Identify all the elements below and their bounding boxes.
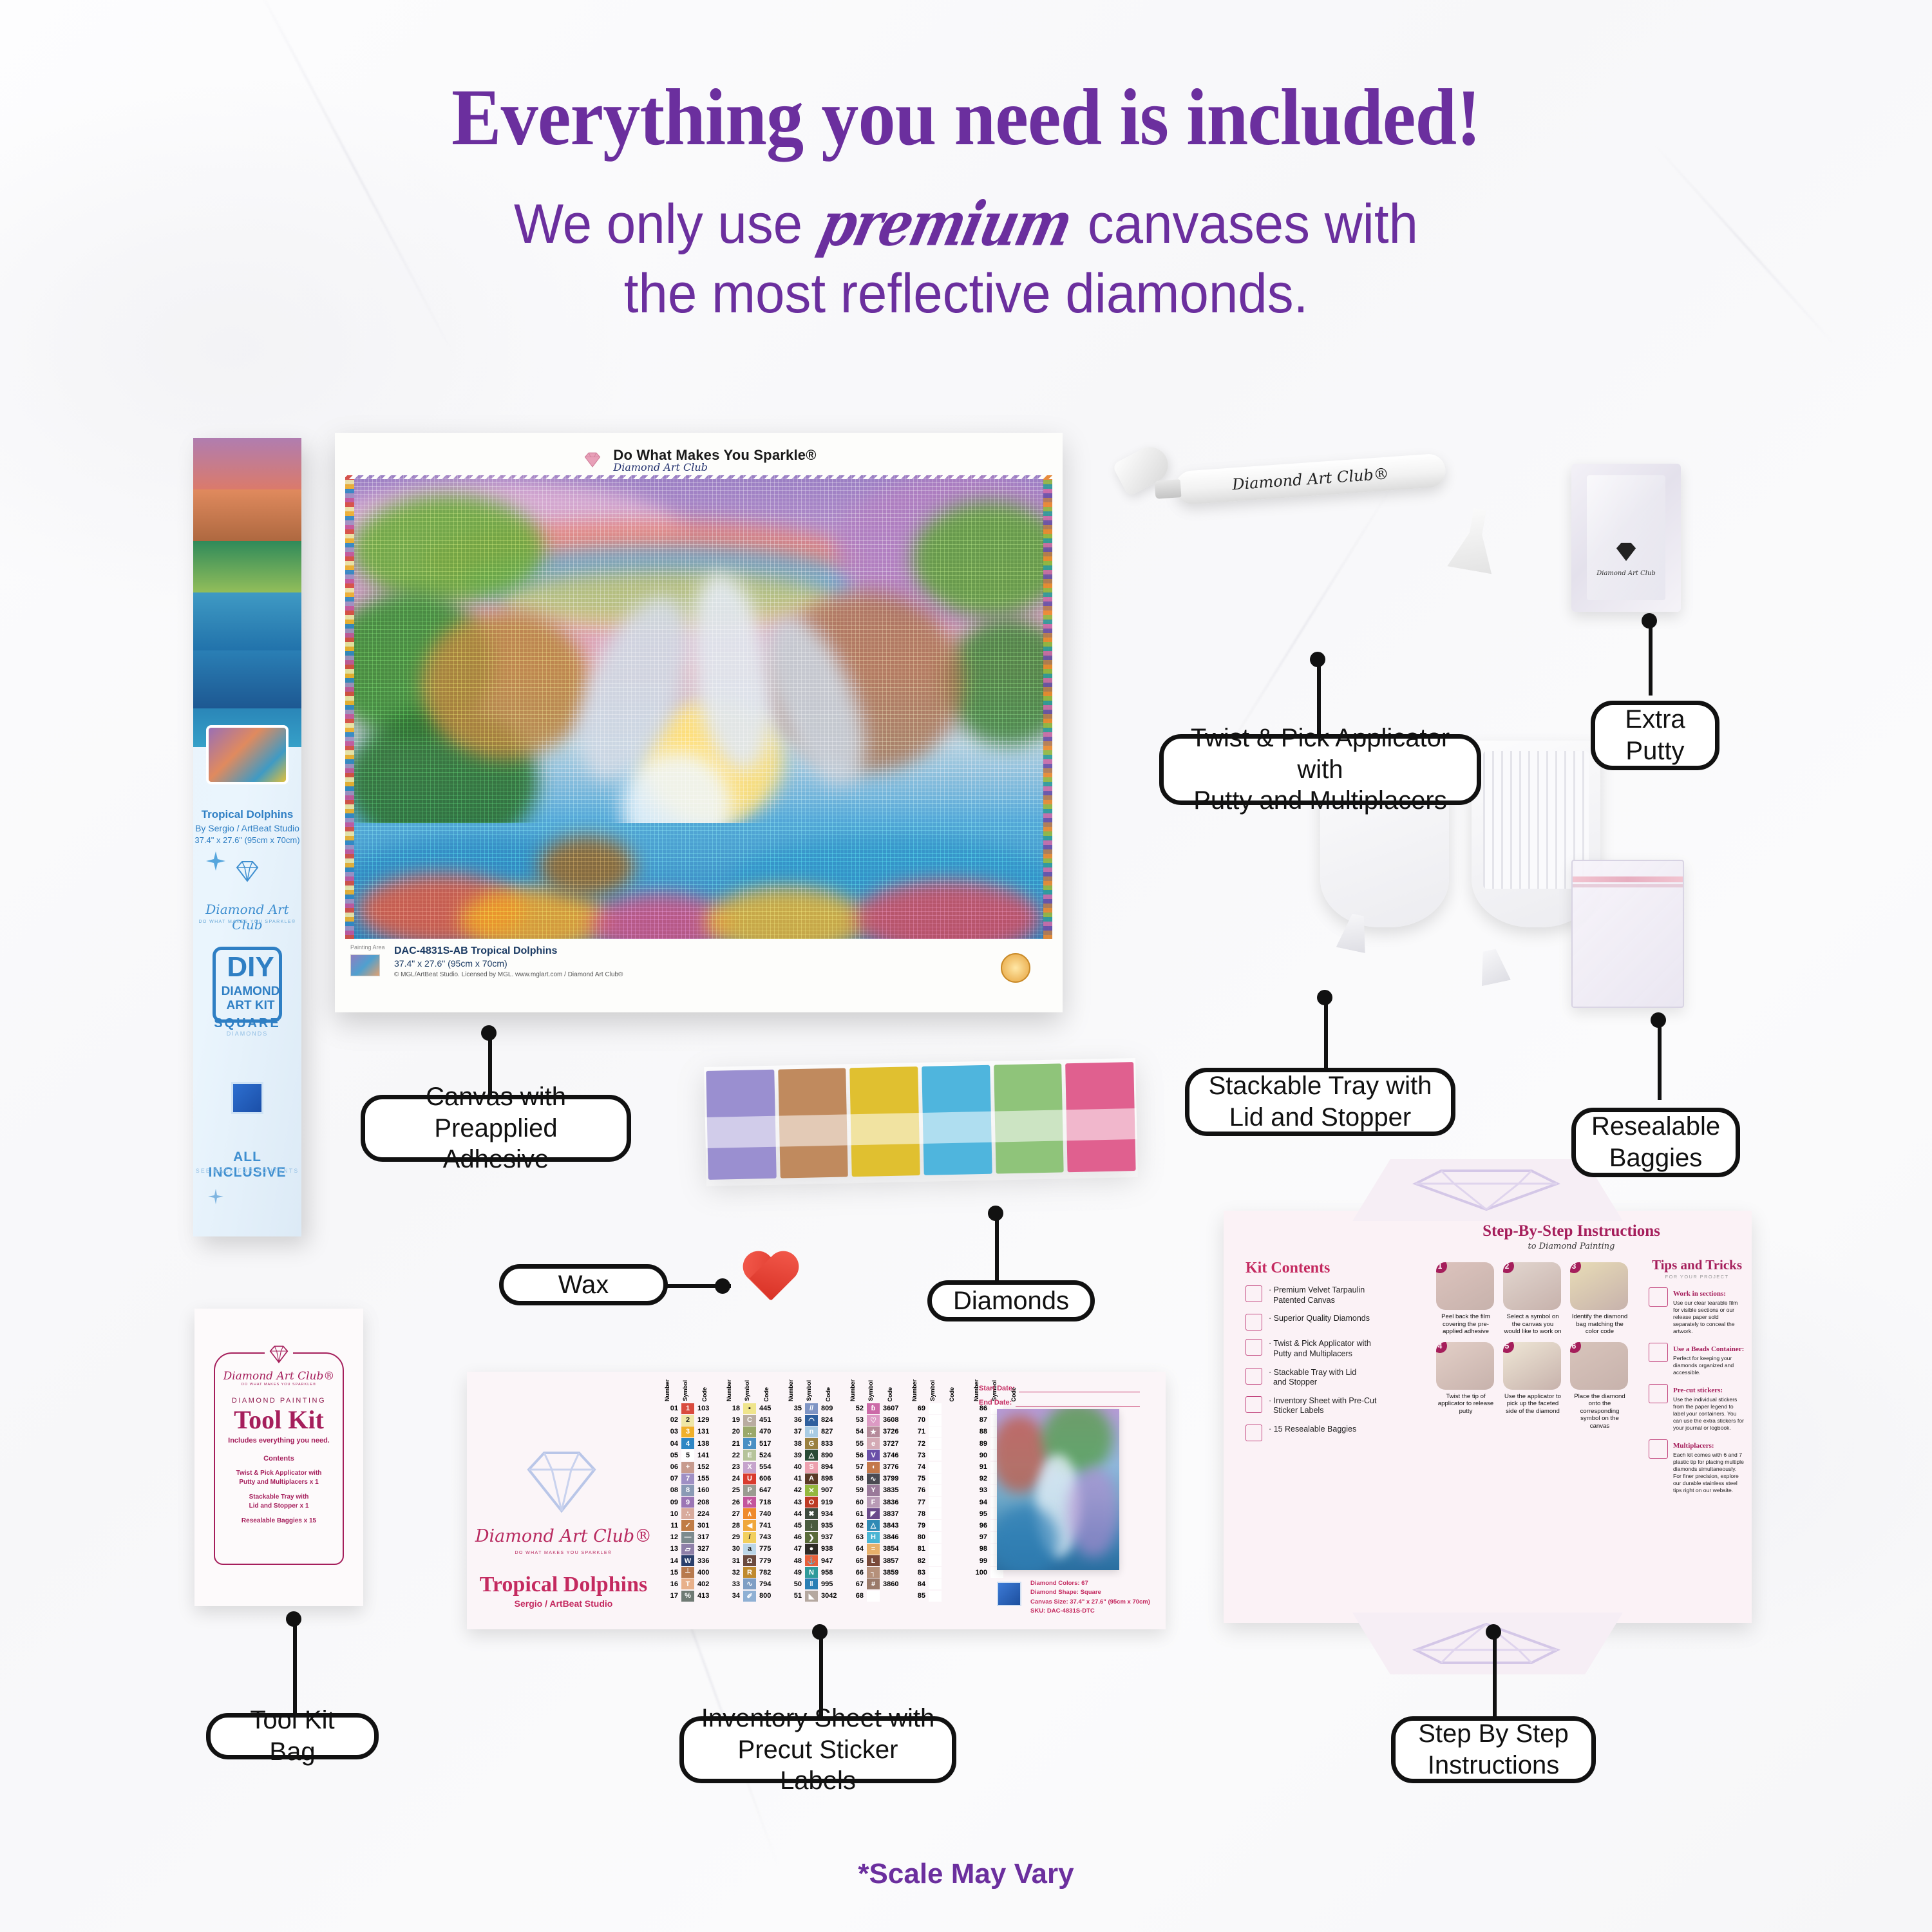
tip-title: Use a Beads Container:: [1673, 1345, 1744, 1353]
diamond-shape-label: SQUARE: [193, 1016, 301, 1031]
inventory-row: 79: [907, 1520, 969, 1531]
legend-number: 44: [784, 1510, 802, 1518]
inventory-row: 56V3746: [846, 1450, 907, 1461]
legend-code: 141: [697, 1452, 719, 1459]
kit-box-artwork: [193, 438, 301, 799]
legend-symbol: V: [867, 1450, 880, 1461]
legend-code: 160: [697, 1486, 719, 1494]
subtitle-part-1: We only use: [514, 193, 802, 255]
legend-symbol: ↓: [805, 1520, 818, 1531]
inventory-row: 51◣3042: [784, 1590, 846, 1602]
legend-code: 103: [697, 1405, 719, 1412]
instructions-header: Step-By-Step Instructions to Diamond Pai…: [1436, 1222, 1707, 1251]
inventory-row: 022129: [660, 1414, 722, 1426]
legend-symbol: F: [867, 1497, 880, 1508]
wax-heart: [741, 1253, 800, 1308]
legend-code: 524: [759, 1452, 781, 1459]
toolkit-content-line: Putty and Multiplacers x 1: [239, 1479, 318, 1486]
inventory-row: 49N958: [784, 1567, 846, 1578]
inventory-row: 59Y3835: [846, 1484, 907, 1496]
legend-number: 26: [722, 1499, 740, 1506]
leader-dot-baggies: [1651, 1012, 1666, 1028]
leader-dot-wax: [715, 1278, 730, 1294]
legend-symbol: a: [743, 1544, 756, 1555]
legend-number: 60: [846, 1499, 864, 1506]
callout-extra-putty-text: Extra Putty: [1625, 704, 1685, 767]
inventory-row: 055141: [660, 1450, 722, 1461]
tip-icon: [1649, 1384, 1668, 1403]
legend-symbol: ◤: [867, 1508, 880, 1519]
inventory-row: 14W336: [660, 1555, 722, 1566]
legend-number: 41: [784, 1475, 802, 1482]
callout-line-2: Lid and Stopper: [1229, 1103, 1411, 1132]
legend-number: 07: [660, 1475, 678, 1482]
leader-dot-diamonds: [988, 1206, 1003, 1221]
callout-applicator-text: Twist & Pick Applicator with Putty and M…: [1180, 723, 1460, 817]
legend-code: 3727: [883, 1440, 905, 1448]
end-date-input[interactable]: [1016, 1399, 1140, 1406]
legend-symbol: e: [867, 1438, 880, 1449]
legend-number: 23: [722, 1463, 740, 1471]
legend-code: 947: [821, 1557, 843, 1565]
inventory-row: 099208: [660, 1497, 722, 1508]
legend-code: 470: [759, 1428, 781, 1435]
inventory-row: 53♡3608: [846, 1414, 907, 1426]
inventory-row: 33∿794: [722, 1578, 784, 1590]
legend-code: 327: [697, 1545, 719, 1553]
tip-body: Perfect for keeping your diamonds organi…: [1673, 1355, 1745, 1376]
canvas-edge-bottom: [335, 1005, 1063, 1012]
legend-number: 90: [969, 1452, 987, 1459]
callout-resealable-baggies[interactable]: Resealable Baggies: [1571, 1108, 1740, 1177]
inventory-row: 67#3860: [846, 1578, 907, 1590]
inventory-row: 20‥470: [722, 1426, 784, 1437]
legend-symbol: ┴: [681, 1567, 694, 1578]
legend-symbol: Y: [867, 1485, 880, 1496]
legend-number: 64: [846, 1545, 864, 1553]
legend-symbol: [929, 1497, 942, 1508]
step-text: Place the diamond onto the corresponding…: [1570, 1393, 1629, 1430]
inventory-column: NumberSymbolCode18▪44519C45120‥47021J517…: [722, 1372, 784, 1602]
inventory-row: 011103: [660, 1403, 722, 1414]
legend-number: 83: [907, 1569, 925, 1577]
legend-symbol: //: [805, 1403, 818, 1414]
legend-code: 3837: [883, 1510, 905, 1518]
inventory-row: 29/743: [722, 1531, 784, 1543]
tip-item: Work in sections:Use our clear tearable …: [1649, 1287, 1745, 1335]
legend-number: 47: [784, 1545, 802, 1553]
inventory-row: 69: [907, 1403, 969, 1414]
inventory-row: 25P647: [722, 1484, 784, 1496]
instruction-step: 1Peel back the film covering the pre-app…: [1436, 1262, 1495, 1336]
callout-resealable-baggies-text: Resealable Baggies: [1591, 1111, 1720, 1174]
subtitle-script-premium: premium: [811, 185, 1078, 262]
legend-symbol: [929, 1485, 942, 1496]
legend-symbol: ∧: [743, 1508, 756, 1519]
kit-content-text: · Premium Velvet Tarpaulin Patented Canv…: [1269, 1285, 1365, 1305]
legend-symbol: [929, 1508, 942, 1519]
canvas-header: Do What Makes You Sparkle® Diamond Art C…: [345, 444, 1052, 475]
toolkit-brand-script: Diamond Art Club®: [215, 1370, 343, 1383]
canvas-edge-top: [335, 471, 1063, 479]
callout-extra-putty[interactable]: Extra Putty: [1591, 701, 1719, 770]
callout-line-1: Step By Step: [1418, 1719, 1568, 1748]
canvas-footer: Painting Area DAC-4831S-AB Tropical Dolp…: [345, 939, 1052, 1003]
leader-dot-tray: [1317, 990, 1332, 1005]
putty-pack-logo: Diamond Art Club: [1571, 570, 1681, 577]
legend-number: 73: [907, 1452, 925, 1459]
toolkit-content-line: Twist & Pick Applicator with: [236, 1470, 322, 1477]
inventory-row: 52ɓ3607: [846, 1403, 907, 1414]
end-date-label: End Date:: [979, 1399, 1012, 1406]
sparkle-icon: [205, 850, 227, 872]
legend-symbol: [929, 1426, 942, 1437]
legend-code: 3726: [883, 1428, 905, 1435]
legend-number: 82: [907, 1557, 925, 1565]
step-number: 5: [1503, 1342, 1514, 1353]
legend-number: 38: [784, 1440, 802, 1448]
kit-content-icon: [1245, 1425, 1262, 1441]
legend-number: 81: [907, 1545, 925, 1553]
legend-symbol: ✖: [805, 1508, 818, 1519]
callout-tool-kit-bag[interactable]: Tool Kit Bag: [206, 1713, 379, 1759]
inventory-row: 088160: [660, 1484, 722, 1496]
legend-symbol: N: [805, 1567, 818, 1578]
legend-symbol: [929, 1450, 942, 1461]
inventory-row: 85: [907, 1590, 969, 1602]
diamond-icon: [1390, 1168, 1583, 1212]
legend-number: 61: [846, 1510, 864, 1518]
toolkit-eyebrow: DIAMOND PAINTING: [215, 1397, 343, 1405]
inventory-row: 38G833: [784, 1438, 846, 1450]
inventory-column: NumberSymbolCode011103022129033131044138…: [660, 1372, 722, 1602]
inventory-row: 31Ω779: [722, 1555, 784, 1566]
inventory-row: 84: [907, 1578, 969, 1590]
quality-seal-icon: [1001, 953, 1030, 983]
legend-number: 37: [784, 1428, 802, 1435]
legend-number: 96: [969, 1522, 987, 1529]
kit-box-brand-script: Diamond Art Club: [193, 902, 301, 933]
callout-tool-kit-bag-text: Tool Kit Bag: [227, 1705, 357, 1768]
legend-number: 63: [846, 1533, 864, 1541]
legend-symbol: [929, 1438, 942, 1449]
legend-symbol: 9: [681, 1497, 694, 1508]
inventory-row: 80: [907, 1531, 969, 1543]
canvas-sku-title: DAC-4831S-AB Tropical Dolphins: [394, 945, 1052, 957]
pen-brand-label: Diamond Art Club®: [1231, 465, 1389, 494]
callout-applicator[interactable]: Twist & Pick Applicator with Putty and M…: [1159, 734, 1481, 805]
kit-content-text: · 15 Resealable Baggies: [1269, 1425, 1356, 1435]
legend-symbol: [929, 1532, 942, 1543]
inventory-row: 28◀741: [722, 1520, 784, 1531]
callout-canvas[interactable]: Canvas with Preapplied Adhesive: [361, 1095, 631, 1162]
sparkle-icon: [207, 1188, 224, 1205]
legend-symbol: [929, 1403, 942, 1414]
legend-symbol: U: [743, 1473, 756, 1484]
legend-symbol: ◖: [867, 1462, 880, 1473]
tip-item: Pre-cut stickers:Use the individual stic…: [1649, 1384, 1745, 1432]
legend-symbol: ✓: [681, 1520, 694, 1531]
inventory-row: 64=3854: [846, 1543, 907, 1555]
step-text: Select a symbol on the canvas you would …: [1503, 1313, 1562, 1336]
legend-symbol: O: [805, 1497, 818, 1508]
legend-number: 53: [846, 1416, 864, 1424]
legend-number: 13: [660, 1545, 678, 1553]
inventory-row: 18▪445: [722, 1403, 784, 1414]
tip-body: Use the individual stickers from the pap…: [1673, 1396, 1745, 1432]
leader-dot-inventory: [812, 1624, 828, 1640]
legend-symbol: [867, 1591, 880, 1602]
legend-number: 85: [907, 1592, 925, 1600]
leader-line-instructions: [1493, 1629, 1497, 1725]
kit-content-icon: [1245, 1396, 1262, 1413]
legend-symbol: [929, 1578, 942, 1589]
toolkit-content-item: Resealable Baggies x 15: [215, 1517, 343, 1526]
inventory-meta: Diamond Colors: 67 Diamond Shape: Square…: [1030, 1579, 1150, 1616]
toolkit-subtitle: Includes everything you need.: [215, 1437, 343, 1444]
bead-bag: [920, 1061, 994, 1182]
legend-code: 907: [821, 1486, 843, 1494]
inventory-row: 82: [907, 1555, 969, 1566]
legend-number: 71: [907, 1428, 925, 1435]
legend-code: 935: [821, 1522, 843, 1529]
legend-symbol: G: [805, 1438, 818, 1449]
canvas-size: 37.4" x 27.6" (95cm x 70cm): [394, 958, 1052, 969]
legend-code: 934: [821, 1510, 843, 1518]
inventory-row: 39△890: [784, 1450, 846, 1461]
legend-code: 3843: [883, 1522, 905, 1529]
legend-number: 03: [660, 1428, 678, 1435]
step-number: 3: [1570, 1262, 1581, 1273]
legend-number: 05: [660, 1452, 678, 1459]
step-text: Identify the diamond bag matching the co…: [1570, 1313, 1629, 1336]
legend-number: 10: [660, 1510, 678, 1518]
inventory-row: 26K718: [722, 1497, 784, 1508]
legend-code: 779: [759, 1557, 781, 1565]
kit-content-text: · Superior Quality Diamonds: [1269, 1314, 1370, 1324]
legend-symbol: ◠: [805, 1415, 818, 1426]
step-number: 6: [1570, 1342, 1581, 1353]
legend-symbol: /: [743, 1532, 756, 1543]
callout-line-1: Canvas with: [426, 1083, 566, 1111]
callout-diamonds[interactable]: Diamonds: [927, 1280, 1095, 1321]
twist-pick-applicator-pen: Diamond Art Club®: [1175, 453, 1447, 505]
legend-symbol: ɓ: [867, 1403, 880, 1414]
instructions-title: Step-By-Step Instructions: [1436, 1222, 1707, 1240]
callout-stackable-tray[interactable]: Stackable Tray with Lid and Stopper: [1185, 1068, 1455, 1136]
callout-wax-text: Wax: [558, 1269, 609, 1301]
inventory-row: 44✖934: [784, 1508, 846, 1520]
legend-number: 91: [969, 1463, 987, 1471]
callout-inventory-sheet[interactable]: Inventory Sheet with Precut Sticker Labe…: [679, 1716, 956, 1783]
meta-sku: SKU: DAC-4831S-DTC: [1030, 1607, 1150, 1616]
legend-number: 74: [907, 1463, 925, 1471]
legend-code: 3799: [883, 1475, 905, 1482]
legend-number: 18: [722, 1405, 740, 1412]
callout-line-2: Precut Sticker Labels: [738, 1736, 898, 1795]
legend-symbol: 2: [681, 1415, 694, 1426]
inventory-row: 24U606: [722, 1473, 784, 1484]
legend-number: 94: [969, 1499, 987, 1506]
legend-number: 01: [660, 1405, 678, 1412]
kit-content-item: · 15 Resealable Baggies: [1245, 1425, 1406, 1441]
inventory-artwork-title: Tropical Dolphins: [467, 1573, 660, 1597]
legend-code: 775: [759, 1545, 781, 1553]
tip-icon: [1649, 1439, 1668, 1459]
legend-symbol: ∴: [681, 1508, 694, 1519]
bead-bag: [992, 1059, 1066, 1180]
legend-code: 3776: [883, 1463, 905, 1471]
tips-heading: Tips and Tricks: [1649, 1257, 1745, 1273]
legend-symbol: [929, 1473, 942, 1484]
inventory-row: 68: [846, 1590, 907, 1602]
legend-symbol: 7: [681, 1473, 694, 1484]
meta-shape: Diamond Shape: Square: [1030, 1588, 1150, 1597]
tip-title: Pre-cut stickers:: [1673, 1387, 1723, 1394]
legend-number: 06: [660, 1463, 678, 1471]
kit-content-icon: [1245, 1368, 1262, 1385]
inventory-row: 75: [907, 1473, 969, 1484]
legend-code: 317: [697, 1533, 719, 1541]
start-date-input[interactable]: [1019, 1385, 1140, 1392]
legend-symbol: ‖: [805, 1578, 818, 1589]
kit-content-text: · Twist & Pick Applicator with Putty and…: [1269, 1339, 1371, 1359]
inventory-row: 47●938: [784, 1543, 846, 1555]
inventory-row: 10∴224: [660, 1508, 722, 1520]
legend-code: 919: [821, 1499, 843, 1506]
legend-code: 827: [821, 1428, 843, 1435]
legend-symbol: H: [867, 1532, 880, 1543]
leader-dot-extra-putty: [1642, 613, 1657, 629]
legend-number: 35: [784, 1405, 802, 1412]
legend-symbol: A: [805, 1473, 818, 1484]
instructions-subtitle: to Diamond Painting: [1436, 1242, 1707, 1251]
tool-kit-bag-card: Diamond Art Club® DO WHAT MAKES YOU SPAR…: [194, 1309, 363, 1606]
kit-content-icon: [1245, 1339, 1262, 1356]
legend-symbol: n: [805, 1426, 818, 1437]
inventory-row: 65L3857: [846, 1555, 907, 1566]
legend-number: 51: [784, 1592, 802, 1600]
inventory-row: 044138: [660, 1438, 722, 1450]
legend-number: 16: [660, 1580, 678, 1588]
canvas-artwork: [345, 475, 1052, 939]
inventory-row: 35//809: [784, 1403, 846, 1414]
inventory-preview-artwork: [997, 1409, 1119, 1570]
legend-number: 15: [660, 1569, 678, 1577]
kit-box-brand-tagline: DO WHAT MAKES YOU SPARKLE®: [193, 920, 301, 924]
inventory-row: 19C451: [722, 1414, 784, 1426]
diamond-icon: [581, 451, 604, 468]
tip-icon: [1649, 1343, 1668, 1362]
inventory-row: 30a775: [722, 1543, 784, 1555]
inventory-row: 73: [907, 1450, 969, 1461]
legend-symbol: ‥: [743, 1426, 756, 1437]
page-title: Everything you need is included!: [68, 77, 1864, 160]
inventory-row: 32R782: [722, 1567, 784, 1578]
legend-number: 56: [846, 1452, 864, 1459]
leader-dot-tool-kit-bag: [286, 1611, 301, 1627]
leader-line-baggies: [1658, 1018, 1662, 1100]
all-inclusive-sub: SEE BACK FOR CONTENTS: [193, 1168, 301, 1174]
legend-symbol: E: [743, 1450, 756, 1461]
legend-number: 32: [722, 1569, 740, 1577]
legend-number: 04: [660, 1440, 678, 1448]
legend-symbol: ●: [805, 1544, 818, 1555]
inventory-brand-tagline: DO WHAT MAKES YOU SPARKLE®: [467, 1551, 660, 1555]
step-number: 4: [1436, 1342, 1447, 1353]
callout-wax[interactable]: Wax: [499, 1264, 668, 1305]
legend-number: 36: [784, 1416, 802, 1424]
inventory-row: 74: [907, 1461, 969, 1473]
callout-line-1: Extra: [1625, 705, 1685, 734]
tip-body: Each kit comes with 6 and 7 plastic tip …: [1673, 1452, 1745, 1494]
legend-code: 833: [821, 1440, 843, 1448]
bead-bag: [1063, 1058, 1138, 1179]
diamond-icon: [513, 1448, 610, 1515]
legend-symbol: ▱: [681, 1544, 694, 1555]
legend-code: 937: [821, 1533, 843, 1541]
legend-code: 3854: [883, 1545, 905, 1553]
legend-code: 451: [759, 1416, 781, 1424]
legend-number: 76: [907, 1486, 925, 1494]
legend-code: 3042: [821, 1592, 843, 1600]
inventory-row: 57◖3776: [846, 1461, 907, 1473]
instruction-step: 3Identify the diamond bag matching the c…: [1570, 1262, 1629, 1336]
inventory-column: NumberSymbolCode35//80936◠82437n82738G83…: [784, 1372, 846, 1602]
extra-putty-pack: Diamond Art Club: [1571, 464, 1681, 612]
all-inclusive-label: ALL INCLUSIVE: [193, 1150, 301, 1180]
bead-bag: [704, 1066, 779, 1186]
legend-code: 400: [697, 1569, 719, 1577]
legend-number: 11: [660, 1522, 678, 1529]
diy-line-2: DIAMOND: [216, 985, 285, 999]
legend-number: 55: [846, 1440, 864, 1448]
legend-code: 741: [759, 1522, 781, 1529]
legend-symbol: S: [805, 1462, 818, 1473]
inventory-row: 83: [907, 1567, 969, 1578]
inventory-row: 17%413: [660, 1590, 722, 1602]
callout-line-1: Resealable: [1591, 1112, 1720, 1141]
start-date-label: Start Date:: [979, 1385, 1015, 1392]
legend-symbol: W: [681, 1555, 694, 1566]
kit-content-item: · Superior Quality Diamonds: [1245, 1314, 1406, 1331]
diamond-icon: [232, 860, 263, 883]
legend-code: 3835: [883, 1486, 905, 1494]
meta-colors: Diamond Colors: 67: [1030, 1579, 1150, 1588]
inventory-row: 12—317: [660, 1531, 722, 1543]
resealable-baggie: [1571, 860, 1684, 1008]
inventory-row: 23X554: [722, 1461, 784, 1473]
inventory-row: 48⚓947: [784, 1555, 846, 1566]
callout-step-by-step[interactable]: Step By Step Instructions: [1391, 1716, 1596, 1783]
callout-line-2: Putty and Multiplacers: [1193, 786, 1447, 815]
tips-and-tricks-block: Tips and Tricks FOR YOUR PROJECT Work in…: [1649, 1257, 1745, 1494]
kit-content-item: · Stackable Tray with Lid and Stopper: [1245, 1368, 1406, 1388]
inventory-row: 62△3843: [846, 1520, 907, 1531]
inventory-row: 34✐800: [722, 1590, 784, 1602]
legend-code: 336: [697, 1557, 719, 1565]
diy-kit-box: Tropical Dolphins By Sergio / ArtBeat St…: [193, 438, 301, 1236]
inventory-row: 41A898: [784, 1473, 846, 1484]
legend-number: 31: [722, 1557, 740, 1565]
kit-content-text: · Stackable Tray with Lid and Stopper: [1269, 1368, 1356, 1388]
legend-number: 28: [722, 1522, 740, 1529]
legend-number: 14: [660, 1557, 678, 1565]
toolkit-content-item: Stackable Tray with Lid and Stopper x 1: [215, 1493, 343, 1510]
legend-symbol: P: [743, 1485, 756, 1496]
kit-content-item: · Inventory Sheet with Pre-Cut Sticker L…: [1245, 1396, 1406, 1416]
legend-number: 43: [784, 1499, 802, 1506]
